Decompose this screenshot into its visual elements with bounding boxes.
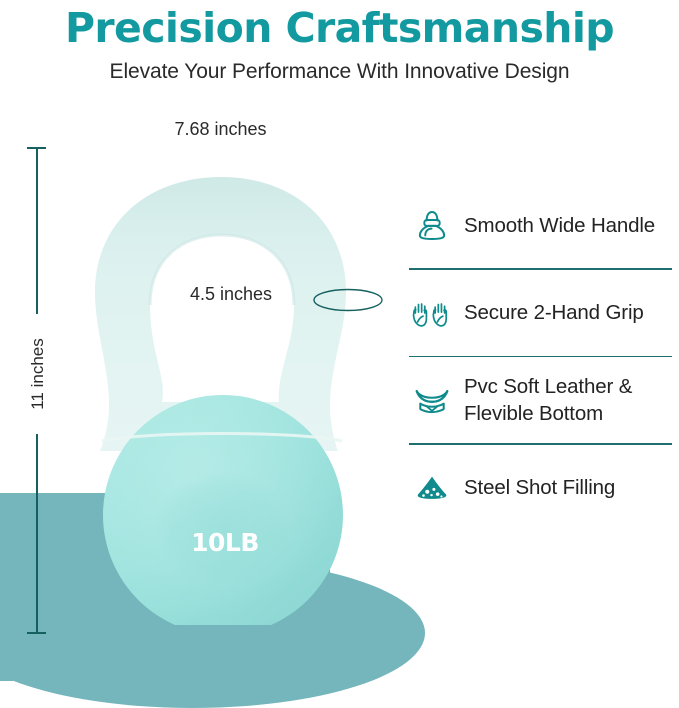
- feature-item-steel-shot-filling[interactable]: Steel Shot Filling: [409, 445, 675, 531]
- page-title: Precision Craftsmanship: [0, 0, 679, 54]
- steel-shot-pile-icon: [409, 465, 455, 511]
- soft-leather-icon: [409, 377, 455, 423]
- feature-list: Smooth Wide Handle Secure 2-Hand Grip: [409, 182, 675, 531]
- height-dimension-cap-bottom: [27, 632, 46, 634]
- two-hands-icon: [409, 290, 455, 336]
- weight-badge: 10LB: [145, 528, 305, 558]
- height-dimension-label: 11 inches: [26, 314, 50, 434]
- width-dimension-value: 7.68 inches: [163, 119, 277, 139]
- kettlebell-handle-opening: [150, 235, 294, 402]
- kettlebell-icon: [409, 202, 455, 248]
- feature-item-secure-2-hand-grip[interactable]: Secure 2-Hand Grip: [409, 270, 675, 356]
- feature-label: Steel Shot Filling: [464, 474, 615, 501]
- page-subtitle: Elevate Your Performance With Innovative…: [0, 54, 679, 86]
- feature-item-pvc-soft-leather[interactable]: Pvc Soft Leather & Flevible Bottom: [409, 357, 675, 443]
- feature-label: Secure 2-Hand Grip: [464, 299, 644, 326]
- height-dimension-value: 11 inches: [25, 332, 50, 416]
- height-dimension-cap-top: [27, 147, 46, 149]
- grip-circumference-ellipse: [312, 288, 384, 312]
- header: Precision Craftsmanship Elevate Your Per…: [0, 0, 679, 86]
- feature-label: Smooth Wide Handle: [464, 212, 655, 239]
- grip-dimension-label: 4.5 inches: [190, 283, 272, 305]
- feature-item-smooth-wide-handle[interactable]: Smooth Wide Handle: [409, 182, 675, 268]
- feature-label: Pvc Soft Leather & Flevible Bottom: [464, 373, 675, 427]
- width-dimension-label: 7.68 inches: [55, 118, 386, 140]
